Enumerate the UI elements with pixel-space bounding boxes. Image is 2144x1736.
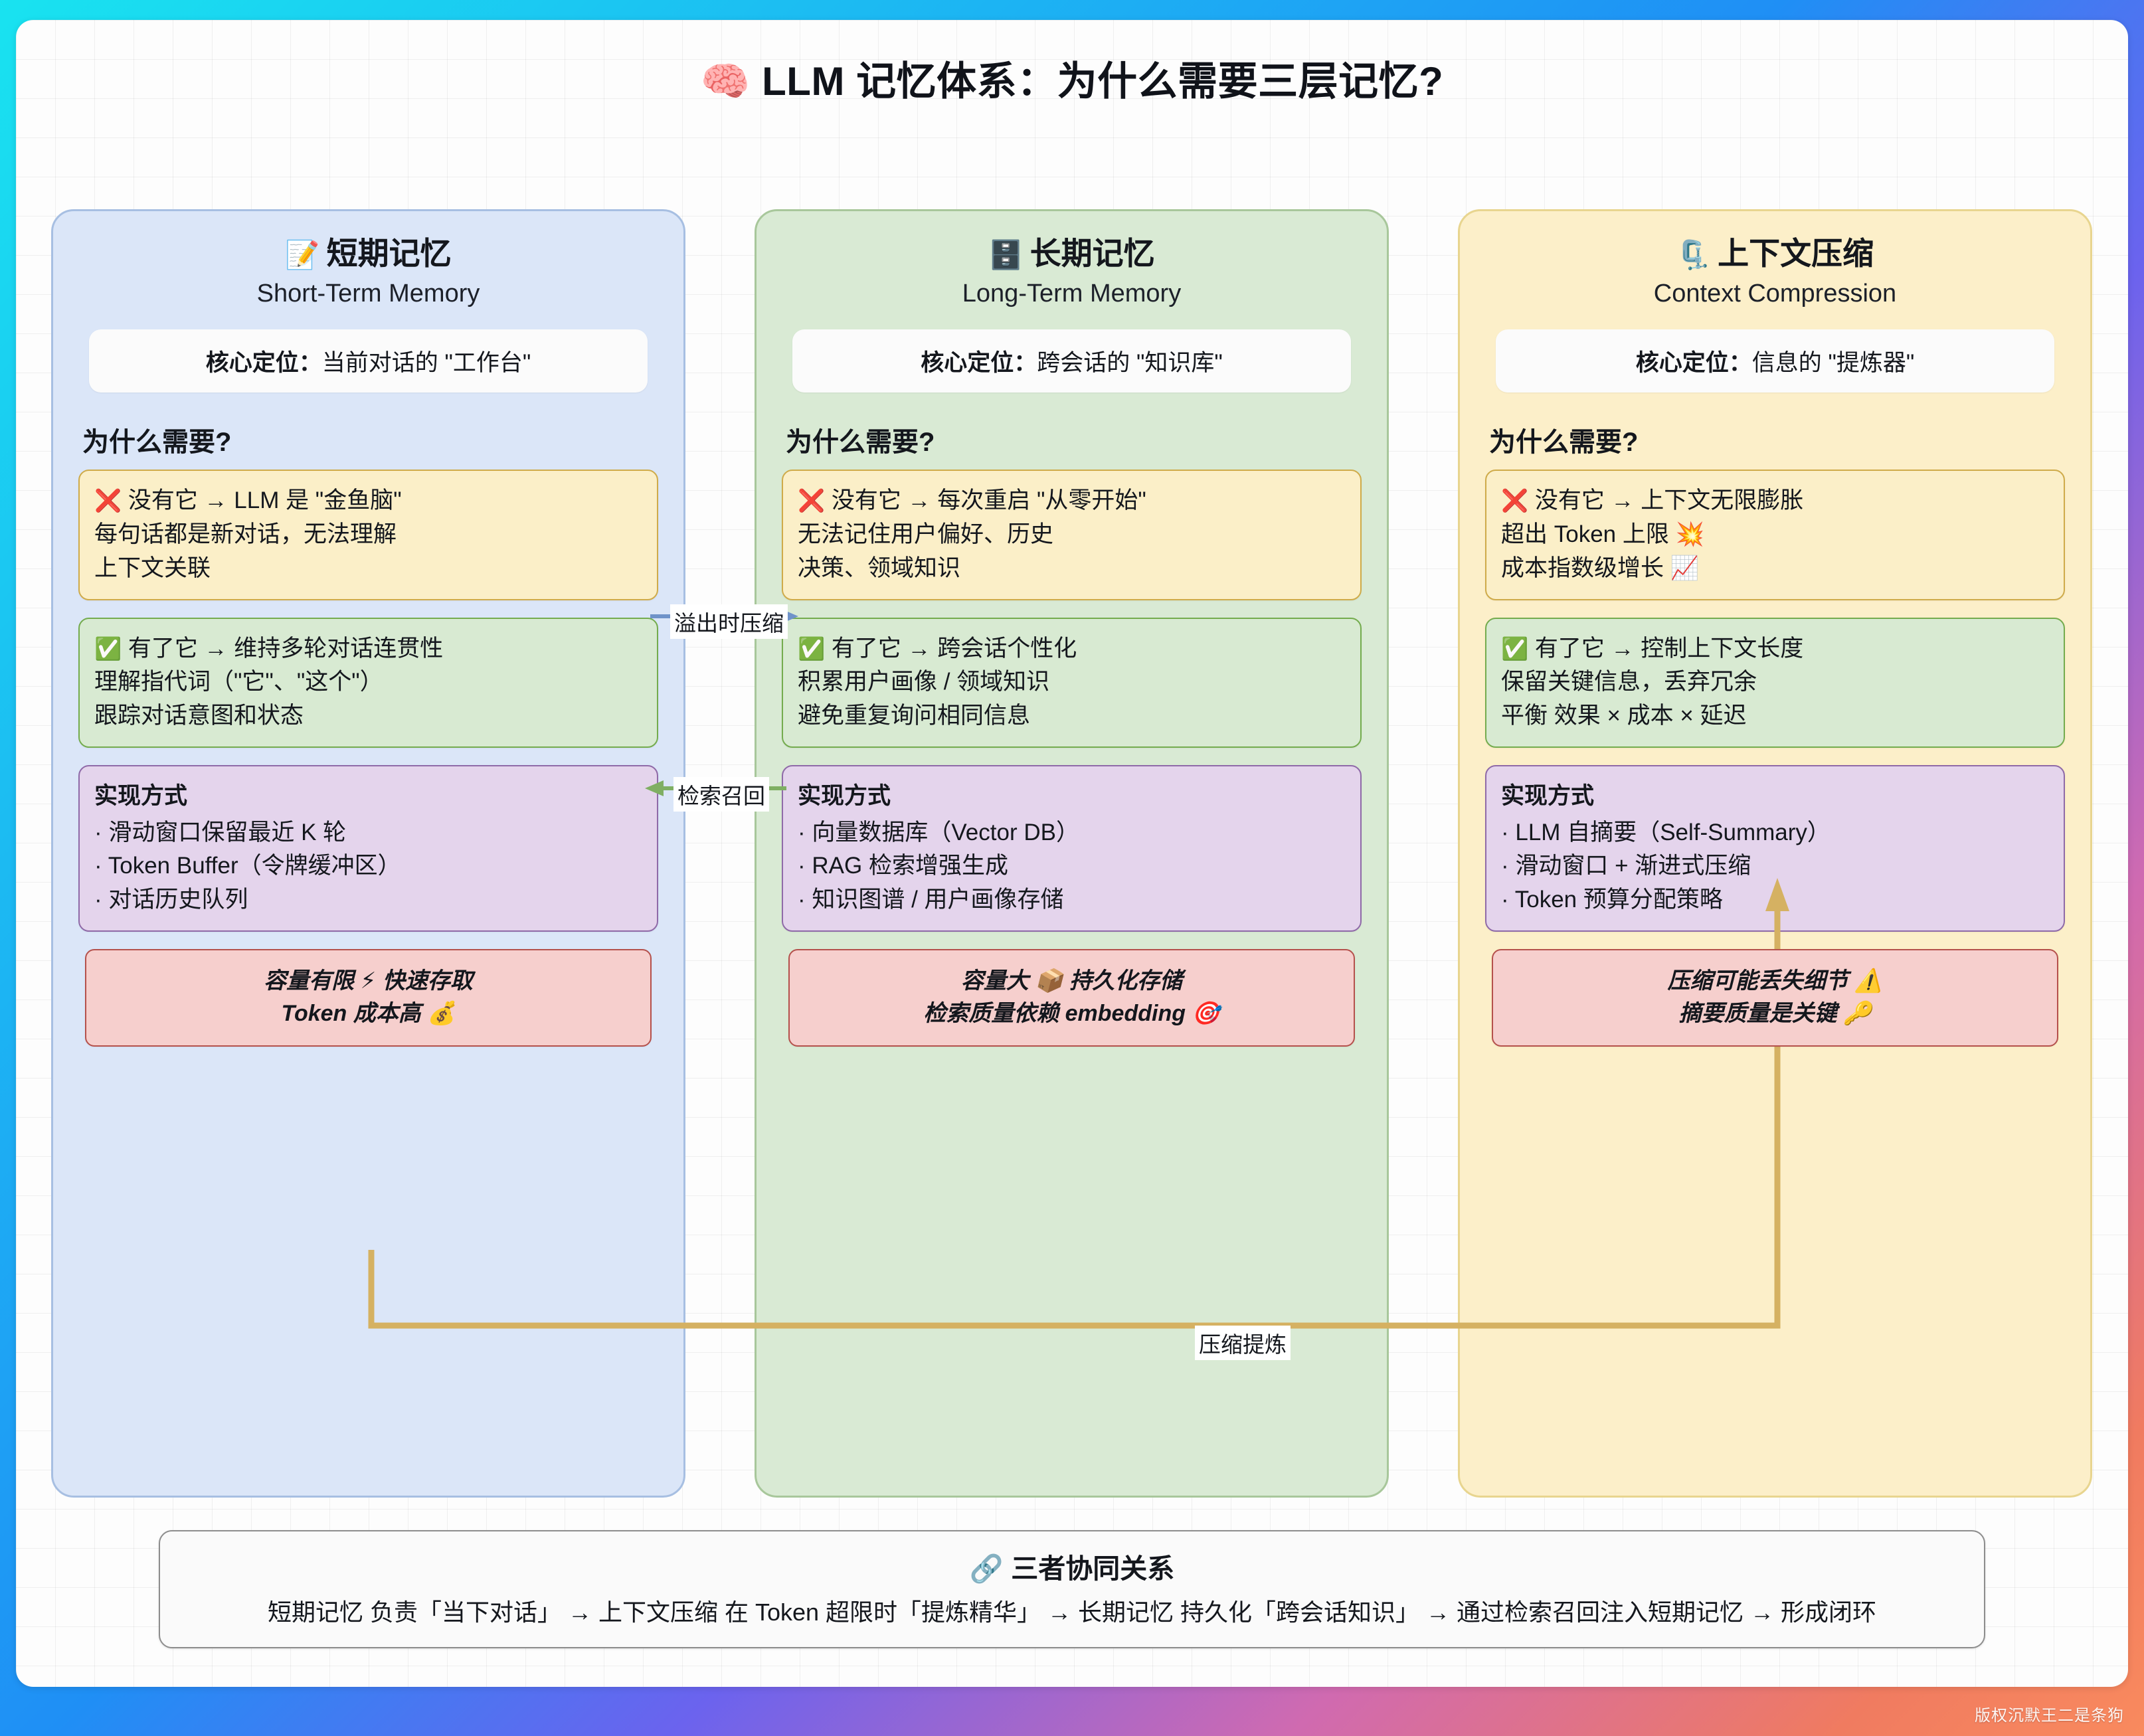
tradeoff-line: 摘要质量是关键 🔑: [1500, 998, 2050, 1030]
diagram-canvas: 🧠 LLM 记忆体系：为什么需要三层记忆? 溢出时压缩 检索召回 压缩提炼 📝短…: [16, 20, 2128, 1687]
tradeoff-line: Token 成本高 💰: [93, 998, 644, 1030]
tradeoff-line: 容量有限 ⚡ 快速存取: [93, 965, 644, 998]
connector-label-recall: 检索召回: [673, 777, 769, 812]
tradeoff-line: 容量大 📦 持久化存储: [796, 965, 1347, 998]
connector-label-distill: 压缩提炼: [1195, 1326, 1291, 1360]
watermark: 版权沉默王二是条狗: [1975, 1702, 2124, 1725]
connector-label-overflow: 溢出时压缩: [670, 604, 788, 639]
tradeoff-note: 容量大 📦 持久化存储 检索质量依赖 embedding 🎯: [788, 949, 1355, 1047]
tradeoff-note: 容量有限 ⚡ 快速存取 Token 成本高 💰: [85, 949, 652, 1047]
tradeoff-line: 检索质量依赖 embedding 🎯: [796, 998, 1347, 1030]
tradeoff-note: 压缩可能丢失细节 ⚠️ 摘要质量是关键 🔑: [1492, 949, 2058, 1047]
connector-wires: [16, 20, 2128, 1687]
tradeoff-line: 压缩可能丢失细节 ⚠️: [1500, 965, 2050, 998]
connector-distill: [371, 878, 1789, 1326]
